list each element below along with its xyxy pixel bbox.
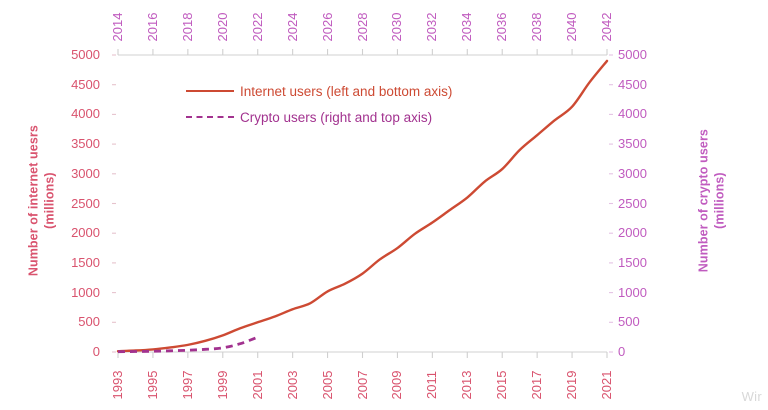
bottom-axis-tick-label: 2017 xyxy=(530,362,544,408)
left-axis-tick-label: 4500 xyxy=(71,78,100,92)
top-axis-tick-label: 2042 xyxy=(600,4,614,50)
top-axis-tick-label: 2014 xyxy=(111,4,125,50)
right-axis-tick-label: 2500 xyxy=(618,197,647,211)
bottom-axis-tick-label: 2019 xyxy=(565,362,579,408)
top-axis-tick-label: 2036 xyxy=(495,4,509,50)
bottom-axis-tick-label: 1997 xyxy=(181,362,195,408)
top-axis-tick-label: 2018 xyxy=(181,4,195,50)
top-axis-tick-label: 2026 xyxy=(321,4,335,50)
bottom-axis-tick-label: 2013 xyxy=(460,362,474,408)
bottom-axis-tick-label: 1999 xyxy=(216,362,230,408)
left-axis-tick-label: 3500 xyxy=(71,137,100,151)
bottom-axis-tick-label: 2005 xyxy=(321,362,335,408)
right-axis-title: Number of crypto users (millions) xyxy=(696,101,727,301)
legend-item-crypto-users: Crypto users (right and top axis) xyxy=(186,104,452,130)
left-axis-title-line1: Number of internet uesrs xyxy=(26,101,42,301)
bottom-axis-tick-label: 2015 xyxy=(495,362,509,408)
top-axis-tick-label: 2016 xyxy=(146,4,160,50)
bottom-axis-tick-label: 2003 xyxy=(286,362,300,408)
right-axis-tick-label: 500 xyxy=(618,315,640,329)
top-axis-tick-label: 2040 xyxy=(565,4,579,50)
left-axis-ticks xyxy=(112,55,116,352)
bottom-axis-tick-label: 2009 xyxy=(390,362,404,408)
right-axis-tick-label: 1000 xyxy=(618,286,647,300)
left-axis-title: Number of internet uesrs (millions) xyxy=(26,101,57,301)
left-axis-tick-label: 0 xyxy=(93,345,100,359)
legend-item-internet-users: Internet users (left and bottom axis) xyxy=(186,78,452,104)
top-axis-tick-label: 2024 xyxy=(286,4,300,50)
left-axis-title-line2: (millions) xyxy=(42,101,58,301)
right-axis-title-line2: (millions) xyxy=(712,101,728,301)
right-axis-tick-label: 3000 xyxy=(618,167,647,181)
right-axis-tick-label: 3500 xyxy=(618,137,647,151)
plot-area xyxy=(0,0,768,410)
legend-label-internet-users: Internet users (left and bottom axis) xyxy=(240,84,452,99)
right-axis-tick-label: 4500 xyxy=(618,78,647,92)
bottom-axis-tick-label: 1993 xyxy=(111,362,125,408)
top-axis-tick-label: 2032 xyxy=(425,4,439,50)
legend-label-crypto-users: Crypto users (right and top axis) xyxy=(240,110,432,125)
bottom-axis-tick-label: 2021 xyxy=(600,362,614,408)
left-axis-tick-label: 2000 xyxy=(71,226,100,240)
right-axis-tick-label: 4000 xyxy=(618,107,647,121)
top-axis-tick-label: 2034 xyxy=(460,4,474,50)
right-axis-tick-label: 0 xyxy=(618,345,625,359)
right-axis-tick-label: 2000 xyxy=(618,226,647,240)
chart-legend: Internet users (left and bottom axis) Cr… xyxy=(186,78,452,130)
bottom-axis-tick-label: 1995 xyxy=(146,362,160,408)
top-axis-tick-label: 2020 xyxy=(216,4,230,50)
left-axis-tick-label: 1000 xyxy=(71,286,100,300)
bottom-axis-ticks xyxy=(118,352,607,358)
left-axis-tick-label: 4000 xyxy=(71,107,100,121)
right-axis-ticks xyxy=(609,55,613,352)
bottom-axis-tick-label: 2007 xyxy=(356,362,370,408)
legend-line-swatch-crypto-icon xyxy=(186,116,234,118)
right-axis-tick-label: 5000 xyxy=(618,48,647,62)
top-axis-tick-label: 2030 xyxy=(390,4,404,50)
left-axis-tick-label: 2500 xyxy=(71,197,100,211)
left-axis-tick-label: 3000 xyxy=(71,167,100,181)
top-axis-tick-label: 2022 xyxy=(251,4,265,50)
right-axis-tick-label: 1500 xyxy=(618,256,647,270)
bottom-axis-tick-label: 2001 xyxy=(251,362,265,408)
top-axis-tick-label: 2038 xyxy=(530,4,544,50)
left-axis-tick-label: 500 xyxy=(78,315,100,329)
left-axis-tick-label: 1500 xyxy=(71,256,100,270)
legend-line-swatch-internet-icon xyxy=(186,90,234,92)
watermark-text: Wir xyxy=(742,389,762,404)
top-axis-tick-label: 2028 xyxy=(356,4,370,50)
bottom-axis-tick-label: 2011 xyxy=(425,362,439,408)
right-axis-title-line1: Number of crypto users xyxy=(696,101,712,301)
chart-figure: Number of internet uesrs (millions) Numb… xyxy=(0,0,768,410)
left-axis-tick-label: 5000 xyxy=(71,48,100,62)
